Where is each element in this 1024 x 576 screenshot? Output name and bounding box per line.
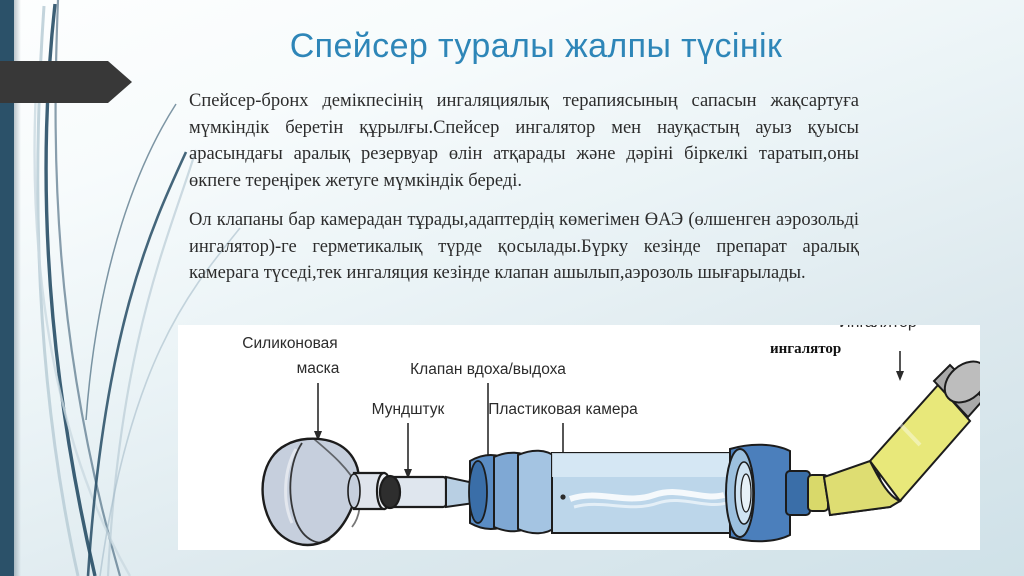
chamber-adapter-shape bbox=[726, 445, 828, 542]
label-silicone-mask-line1: Силиконовая bbox=[242, 335, 337, 353]
metered-dose-inhaler-shape bbox=[824, 353, 980, 515]
label-plastic-chamber: Пластиковая камера bbox=[488, 401, 638, 419]
label-inhaler-overlay: ингалятор bbox=[770, 341, 841, 358]
paragraph-2: Ол клапаны бар камерадан тұрады,адаптерд… bbox=[189, 207, 859, 287]
cutoff-inhaler-label: Ингалятор bbox=[839, 325, 917, 331]
slide: Спейсер туралы жалпы түсінік Спейсер-бро… bbox=[0, 0, 1024, 576]
arrow-banner-shape bbox=[0, 61, 108, 103]
page-title: Спейсер туралы жалпы түсінік bbox=[186, 24, 886, 68]
mouthpiece-shape bbox=[380, 476, 474, 508]
spacer-device-illustration: Ингалятор bbox=[178, 325, 980, 550]
label-mouthpiece: Мундштук bbox=[372, 401, 445, 419]
label-silicone-mask-line2: маска bbox=[297, 360, 340, 378]
body-text-column: Спейсер-бронх демікпесінің ингаляциялық … bbox=[189, 88, 859, 300]
label-inhale-exhale-valve: Клапан вдоха/выдоха bbox=[410, 361, 566, 379]
silicone-mask-shape bbox=[263, 439, 391, 545]
inhale-exhale-valve-shape bbox=[469, 451, 556, 534]
plastic-chamber-shape bbox=[552, 453, 738, 533]
paragraph-1: Спейсер-бронх демікпесінің ингаляциялық … bbox=[189, 88, 859, 194]
figure-panel: Ингалятор bbox=[178, 325, 980, 550]
